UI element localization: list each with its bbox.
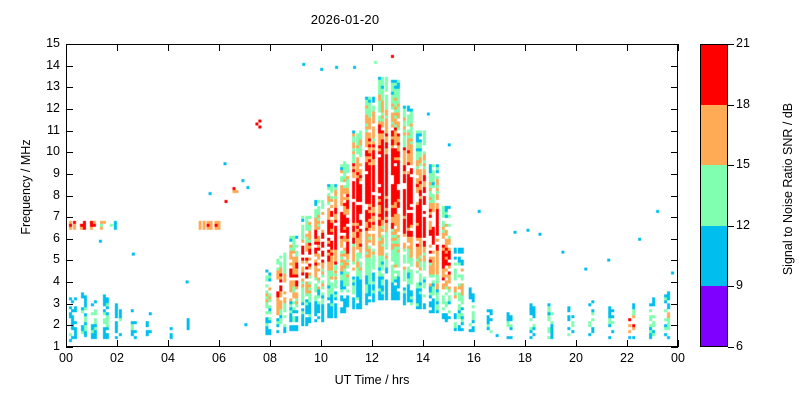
y-tick-15: [671, 44, 678, 45]
x-tick-00: [66, 44, 67, 51]
y-tick-14: [671, 66, 678, 67]
y-tick-3: [671, 304, 678, 305]
x-tick-label-08: 08: [250, 351, 290, 365]
y-tick-2: [671, 325, 678, 326]
x-tick-20: [576, 340, 577, 347]
y-tick-8: [66, 196, 73, 197]
x-tick-14: [423, 340, 424, 347]
y-tick-label-8: 8: [30, 188, 60, 202]
y-tick-9: [66, 174, 73, 175]
y-tick-15: [66, 44, 73, 45]
x-tick-12: [372, 340, 373, 347]
y-tick-label-12: 12: [30, 101, 60, 115]
colorbar-tick-label-15: 15: [736, 157, 766, 171]
colorbar-band-cyan: [701, 226, 727, 286]
x-tick-06: [219, 340, 220, 347]
y-tick-11: [66, 131, 73, 132]
y-tick-6: [66, 239, 73, 240]
colorbar: [700, 44, 728, 347]
y-tick-label-13: 13: [30, 79, 60, 93]
x-tick-12: [372, 44, 373, 51]
y-tick-9: [671, 174, 678, 175]
x-tick-label-18: 18: [505, 351, 545, 365]
x-tick-08: [270, 340, 271, 347]
y-tick-label-6: 6: [30, 231, 60, 245]
colorbar-tick-6: [728, 347, 734, 348]
colorbar-band-mint-green: [701, 165, 727, 225]
y-tick-2: [66, 325, 73, 326]
x-tick-label-12: 12: [352, 351, 392, 365]
x-tick-label-00: 00: [46, 351, 86, 365]
y-tick-12: [671, 109, 678, 110]
y-tick-label-14: 14: [30, 58, 60, 72]
y-tick-11: [671, 131, 678, 132]
y-tick-10: [671, 152, 678, 153]
x-tick-10: [321, 340, 322, 347]
x-tick-10: [321, 44, 322, 51]
x-tick-06: [219, 44, 220, 51]
x-tick-20: [576, 44, 577, 51]
x-tick-08: [270, 44, 271, 51]
x-tick-22: [627, 340, 628, 347]
x-tick-label-10: 10: [301, 351, 341, 365]
y-tick-5: [66, 260, 73, 261]
colorbar-band-red: [701, 45, 727, 105]
y-tick-13: [671, 87, 678, 88]
y-tick-5: [671, 260, 678, 261]
colorbar-tick-15: [728, 165, 734, 166]
y-axis-title: Frequency / MHz: [19, 67, 33, 307]
x-tick-18: [525, 340, 526, 347]
x-tick-04: [168, 340, 169, 347]
y-tick-14: [66, 66, 73, 67]
y-tick-label-15: 15: [30, 36, 60, 50]
y-tick-4: [671, 282, 678, 283]
x-tick-00: [66, 340, 67, 347]
y-tick-label-5: 5: [30, 252, 60, 266]
x-tick-label-22: 22: [607, 351, 647, 365]
y-tick-label-4: 4: [30, 274, 60, 288]
x-tick-16: [474, 340, 475, 347]
y-tick-10: [66, 152, 73, 153]
y-tick-7: [671, 217, 678, 218]
x-tick-04: [168, 44, 169, 51]
y-tick-1: [66, 347, 73, 348]
colorbar-tick-9: [728, 286, 734, 287]
colorbar-tick-label-9: 9: [736, 278, 766, 292]
x-tick-label-06: 06: [199, 351, 239, 365]
colorbar-title: Signal to Noise Ratio SNR / dB: [781, 49, 795, 329]
y-tick-8: [671, 196, 678, 197]
x-tick-label-16: 16: [454, 351, 494, 365]
x-tick-02: [117, 44, 118, 51]
x-tick-00: [678, 340, 679, 347]
y-tick-13: [66, 87, 73, 88]
x-tick-02: [117, 340, 118, 347]
ionogram-snr-plot: 2026-01-20 123456789101112131415 0002040…: [0, 0, 800, 400]
y-tick-label-2: 2: [30, 317, 60, 331]
y-tick-7: [66, 217, 73, 218]
x-tick-label-14: 14: [403, 351, 443, 365]
x-tick-label-02: 02: [97, 351, 137, 365]
y-tick-12: [66, 109, 73, 110]
colorbar-tick-18: [728, 105, 734, 106]
x-tick-18: [525, 44, 526, 51]
colorbar-tick-label-6: 6: [736, 339, 766, 353]
colorbar-band-violet: [701, 286, 727, 346]
colorbar-tick-label-18: 18: [736, 97, 766, 111]
x-tick-label-00: 00: [658, 351, 698, 365]
x-tick-label-04: 04: [148, 351, 188, 365]
colorbar-band-orange: [701, 105, 727, 165]
colorbar-tick-21: [728, 44, 734, 45]
x-tick-00: [678, 44, 679, 51]
y-tick-3: [66, 304, 73, 305]
x-axis-title: UT Time / hrs: [66, 373, 678, 387]
plot-area: [66, 44, 678, 347]
x-tick-22: [627, 44, 628, 51]
colorbar-tick-12: [728, 226, 734, 227]
x-tick-label-20: 20: [556, 351, 596, 365]
y-tick-6: [671, 239, 678, 240]
y-tick-label-11: 11: [30, 123, 60, 137]
page-title: 2026-01-20: [0, 12, 690, 27]
y-tick-label-3: 3: [30, 296, 60, 310]
y-tick-label-7: 7: [30, 209, 60, 223]
data-scatter-canvas: [67, 45, 677, 346]
x-tick-14: [423, 44, 424, 51]
colorbar-tick-label-21: 21: [736, 36, 766, 50]
y-tick-label-10: 10: [30, 144, 60, 158]
colorbar-tick-label-12: 12: [736, 218, 766, 232]
x-tick-16: [474, 44, 475, 51]
y-tick-4: [66, 282, 73, 283]
y-tick-1: [671, 347, 678, 348]
y-tick-label-9: 9: [30, 166, 60, 180]
